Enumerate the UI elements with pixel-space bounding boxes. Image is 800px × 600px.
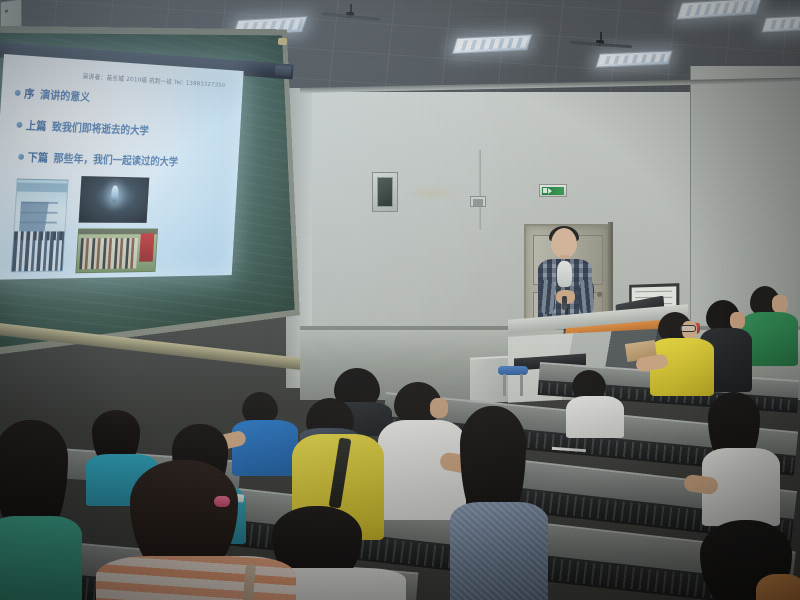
slide-bullet-3: 下篇 那些年，我们一起读过的大学 bbox=[18, 149, 179, 169]
student-light-tee-far bbox=[566, 370, 624, 432]
eyeglasses-icon bbox=[680, 325, 696, 332]
wall-corner-edge bbox=[690, 64, 691, 334]
bullet-dot-icon bbox=[18, 154, 24, 160]
ceiling-light-panel bbox=[761, 14, 800, 32]
slide-bullet-3-lead: 下篇 bbox=[27, 149, 48, 165]
slide-bullet-1-lead: 序 bbox=[24, 85, 35, 101]
slide-bullet-2-text: 致我们即将逝去的大学 bbox=[51, 118, 149, 138]
student-yellow-shirt-glasses bbox=[650, 312, 714, 392]
blue-stool[interactable] bbox=[498, 366, 528, 396]
slide-bullet-3-text: 那些年，我们一起读过的大学 bbox=[53, 150, 178, 169]
presenter-head bbox=[551, 228, 577, 258]
slide-bullet-1: 序 演讲的意义 bbox=[14, 85, 90, 105]
screen-hook bbox=[278, 38, 287, 46]
slide-bullet-2: 上篇 致我们即将逝去的大学 bbox=[16, 117, 149, 138]
wall-outlet bbox=[470, 196, 486, 207]
classroom-photo: 演讲者：苗长城 2010级 机制一班 Tel: 13883327350 序 演讲… bbox=[0, 0, 800, 600]
slide-bullet-2-lead: 上篇 bbox=[25, 117, 46, 134]
slide-poster-so-young bbox=[75, 228, 158, 273]
slide-bullet-1-text: 演讲的意义 bbox=[40, 86, 91, 104]
bullet-dot-icon bbox=[15, 90, 21, 96]
door-handle-icon[interactable] bbox=[597, 292, 602, 297]
electrical-meter-box bbox=[372, 172, 398, 212]
slide-header: 演讲者：苗长城 2010级 机制一班 Tel: 13883327350 bbox=[82, 70, 238, 89]
student-teal-top bbox=[0, 420, 80, 600]
electrical-conduit bbox=[478, 150, 481, 230]
wall-stain bbox=[404, 186, 462, 200]
bullet-dot-icon bbox=[16, 122, 22, 128]
microphone bbox=[562, 296, 567, 310]
hair-tie bbox=[214, 496, 230, 507]
student-orange-top-front-right bbox=[700, 520, 800, 600]
running-man-icon bbox=[543, 188, 547, 193]
arrow-right-icon bbox=[548, 188, 552, 194]
student-peach-striped-cardigan bbox=[96, 460, 292, 600]
slide-poster-those-years bbox=[11, 179, 69, 273]
student-denim-jacket bbox=[452, 406, 548, 600]
slide-poster-dark-frame bbox=[79, 176, 150, 223]
student-white-tee-right bbox=[706, 392, 780, 522]
exit-sign bbox=[539, 184, 567, 197]
projected-slide: 演讲者：苗长城 2010级 机制一班 Tel: 13883327350 序 演讲… bbox=[0, 54, 244, 280]
